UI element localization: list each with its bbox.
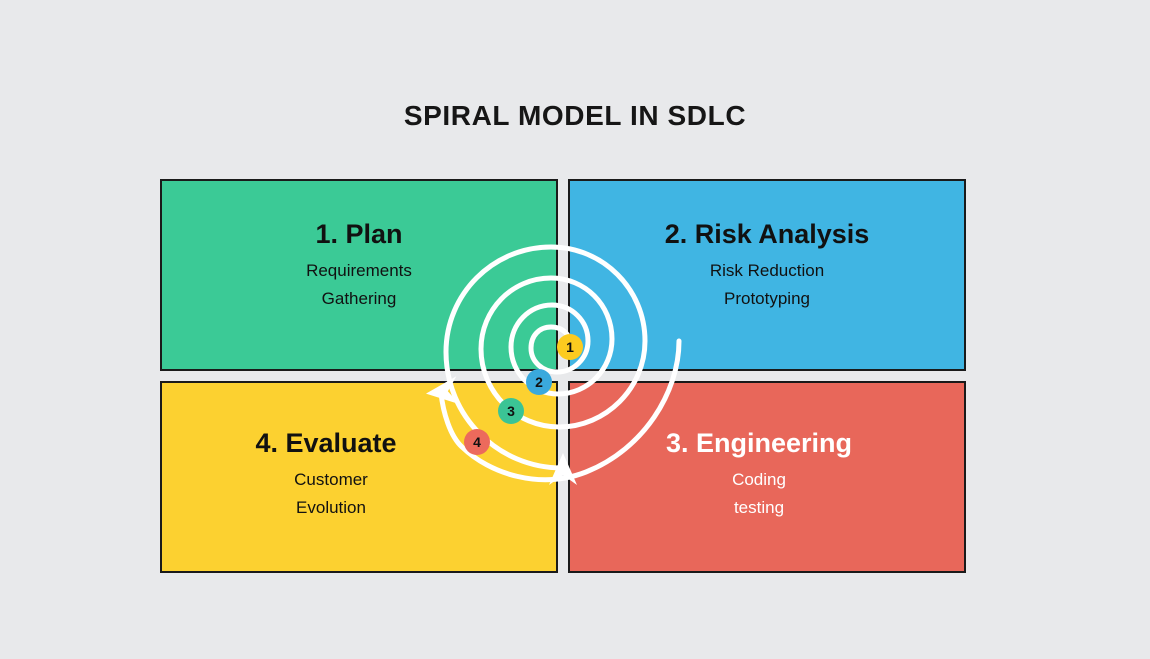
quadrant-plan[interactable]: 1. Plan Requirements Gathering: [160, 179, 558, 371]
quadrant-engineering[interactable]: 3. Engineering Coding testing: [568, 381, 966, 573]
quadrant-plan-text: 1. Plan Requirements Gathering: [162, 219, 556, 312]
step-badge-2-label: 2: [535, 374, 543, 390]
step-badge-2[interactable]: 2: [526, 369, 552, 395]
quadrant-grid: 1. Plan Requirements Gathering 2. Risk A…: [160, 179, 966, 573]
step-badge-4-label: 4: [473, 434, 481, 450]
quadrant-engineering-heading: 3. Engineering: [568, 428, 956, 459]
step-badge-1[interactable]: 1: [557, 334, 583, 360]
quadrant-risk-analysis-line-2: Prototyping: [570, 285, 964, 313]
quadrant-plan-heading: 1. Plan: [162, 219, 556, 250]
quadrant-engineering-line-2: testing: [568, 494, 956, 522]
step-badge-3[interactable]: 3: [498, 398, 524, 424]
quadrant-risk-analysis[interactable]: 2. Risk Analysis Risk Reduction Prototyp…: [568, 179, 966, 371]
page-title: SPIRAL MODEL IN SDLC: [0, 100, 1150, 132]
quadrant-evaluate-lines: Customer Evolution: [160, 466, 528, 521]
quadrant-evaluate-line-2: Evolution: [160, 494, 528, 522]
quadrant-evaluate-line-1: Customer: [160, 466, 528, 494]
quadrant-plan-line-2: Gathering: [162, 285, 556, 313]
quadrant-risk-analysis-heading: 2. Risk Analysis: [570, 219, 964, 250]
quadrant-risk-analysis-lines: Risk Reduction Prototyping: [570, 257, 964, 312]
diagram-canvas: SPIRAL MODEL IN SDLC 1. Plan Requirement…: [0, 0, 1150, 659]
step-badge-1-label: 1: [566, 339, 574, 355]
quadrant-plan-lines: Requirements Gathering: [162, 257, 556, 312]
quadrant-engineering-lines: Coding testing: [568, 466, 956, 521]
step-badge-4[interactable]: 4: [464, 429, 490, 455]
step-badge-3-label: 3: [507, 403, 515, 419]
quadrant-risk-analysis-line-1: Risk Reduction: [570, 257, 964, 285]
quadrant-plan-line-1: Requirements: [162, 257, 556, 285]
quadrant-engineering-text: 3. Engineering Coding testing: [568, 428, 956, 521]
quadrant-risk-analysis-text: 2. Risk Analysis Risk Reduction Prototyp…: [570, 219, 964, 312]
quadrant-engineering-line-1: Coding: [568, 466, 956, 494]
